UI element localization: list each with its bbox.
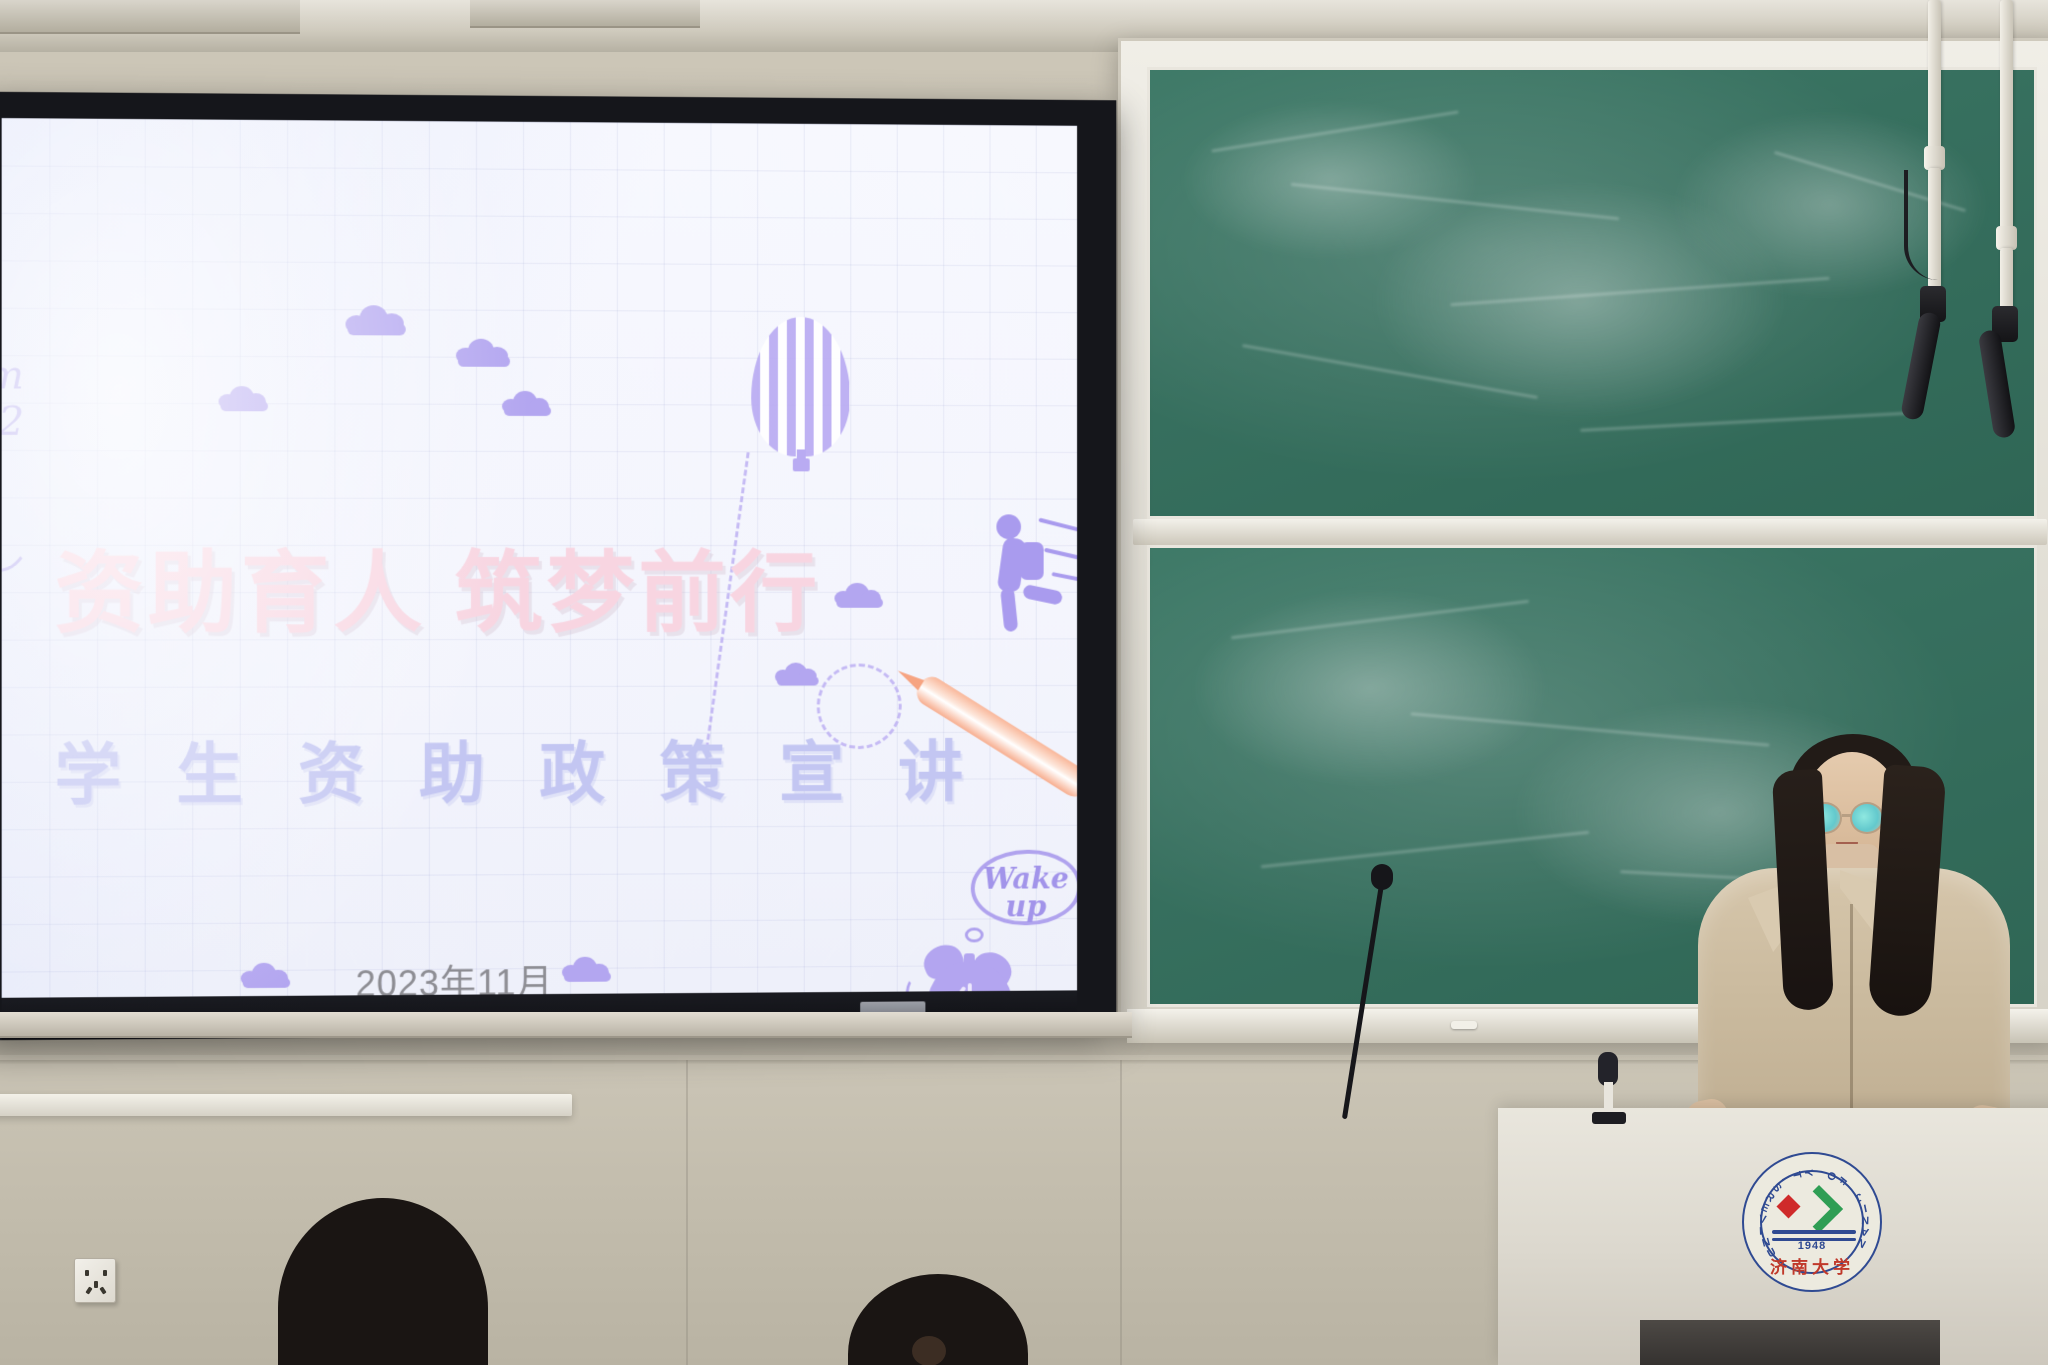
slide-surface: m,2 [2,118,1077,998]
university-of-jinan-seal: UNIVERSITY OF JINAN 1948 济南大学 [1742,1152,1882,1292]
seal-ring-char: I [1759,1226,1763,1238]
ceiling-mic-joint-right [1996,226,2017,250]
alarm-clock-icon [921,939,1025,998]
slide-title: 资助育人 筑梦前行 [54,522,821,650]
ceiling-mic-cable [1904,170,1938,280]
ceiling-mic-pole-right [2000,0,2013,230]
student-hair-tie [912,1336,946,1365]
short-mic-head [1598,1052,1618,1086]
handwriting-fragment: m,2 [2,352,25,445]
wall-joint-line-1 [686,1060,688,1365]
podium-shelf-opening [1640,1320,1940,1365]
speaker-presenter [1690,718,2020,1138]
chalkboard-upper-panel [1147,67,2037,519]
chalk-piece [1451,1021,1477,1029]
ceiling-vent-mid [470,0,700,28]
podium-top-surface [0,1094,572,1116]
projection-screen: m,2 [0,92,1116,1041]
short-mic-base [1592,1112,1626,1124]
speaker-coat [1698,868,2010,1138]
seal-founding-year: 1948 [1744,1240,1880,1252]
seal-ring-char: Y [1802,1169,1814,1177]
wall-joint-line-2 [1120,1060,1122,1365]
ceiling-mic-joint-left [1924,146,1945,170]
seal-chinese-name: 济南大学 [1744,1253,1880,1278]
screen-bottom-rail [0,1012,1132,1038]
short-mic-stem [1604,1082,1613,1116]
ceiling-mic-pole-right-lower [2000,248,2013,312]
thought-bubble-icon: Wake up [971,850,1077,926]
slide-date: 2023年11月 [356,954,554,998]
coat-button-placket [1850,904,1853,1122]
ceiling-mic-pole-left [1928,0,1941,150]
glasses-bridge [1842,814,1852,817]
hot-air-balloon-icon [751,317,850,457]
seal-ring-char: I [1862,1201,1868,1214]
ceiling-vent-left [0,0,300,34]
running-student-icon [990,514,1077,633]
chalkboard-middle-rail [1133,519,2047,545]
slide-subtitle: 学 生 资 助 政 策 宣 讲 [54,719,981,818]
seal-ring-char: F [1835,1174,1849,1188]
glasses-lens-right [1850,802,1884,834]
power-outlet [74,1258,116,1303]
lecture-hall-photo: m,2 [0,0,2048,1365]
